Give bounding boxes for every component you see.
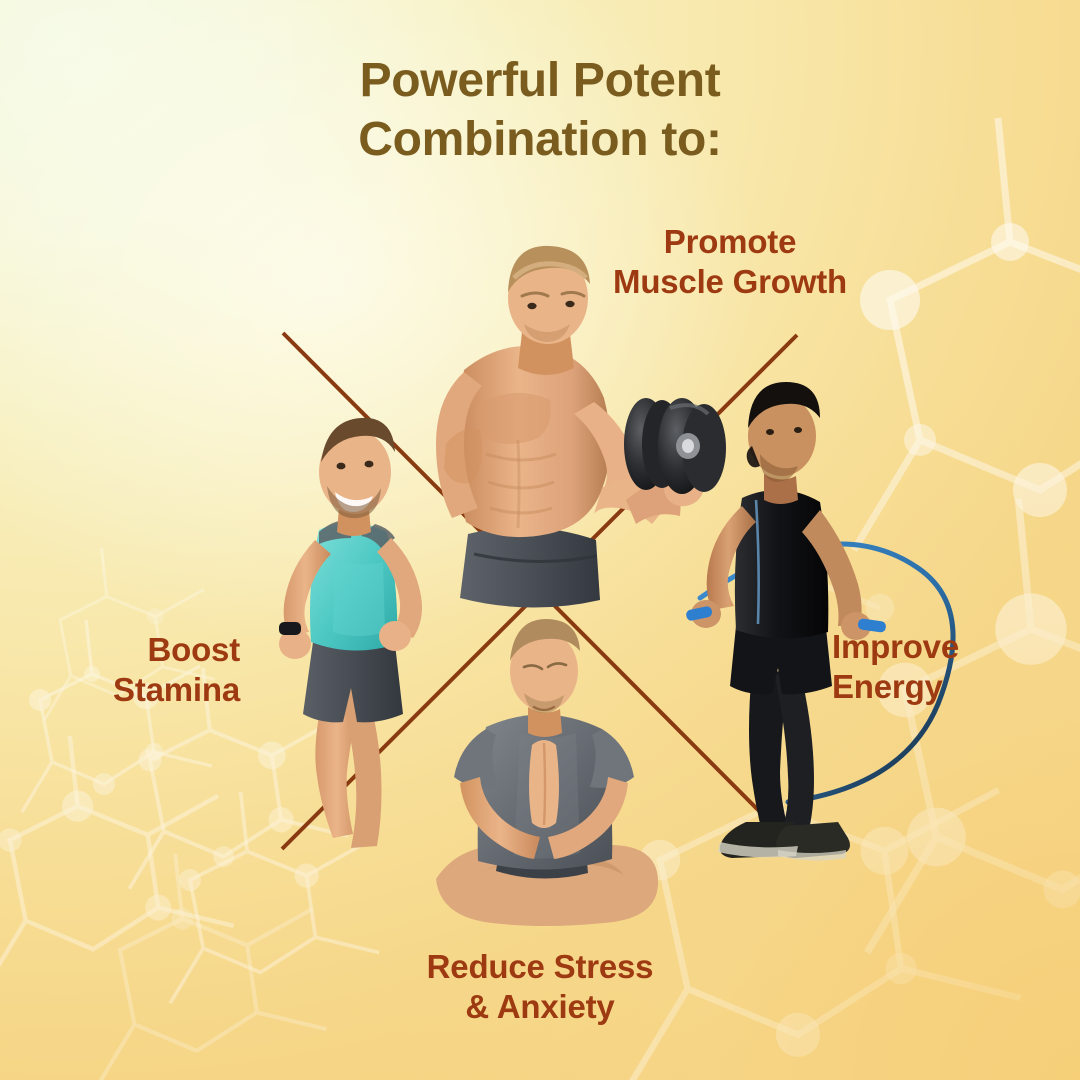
headline-line-1: Powerful Potent (0, 52, 1080, 111)
figure-meditating-man (420, 615, 670, 945)
benefit-label-boost-stamina: Boost Stamina (20, 630, 240, 710)
benefit-label-promote-muscle-growth: Promote Muscle Growth (560, 222, 900, 302)
promo-graphic: Powerful Potent Combination to: Promote … (0, 0, 1080, 1080)
benefit-label-improve-energy: Improve Energy (832, 627, 1062, 707)
page-title: Powerful Potent Combination to: (0, 52, 1080, 169)
headline-line-2: Combination to: (0, 111, 1080, 170)
benefit-label-reduce-stress-anxiety: Reduce Stress & Anxiety (340, 947, 740, 1027)
